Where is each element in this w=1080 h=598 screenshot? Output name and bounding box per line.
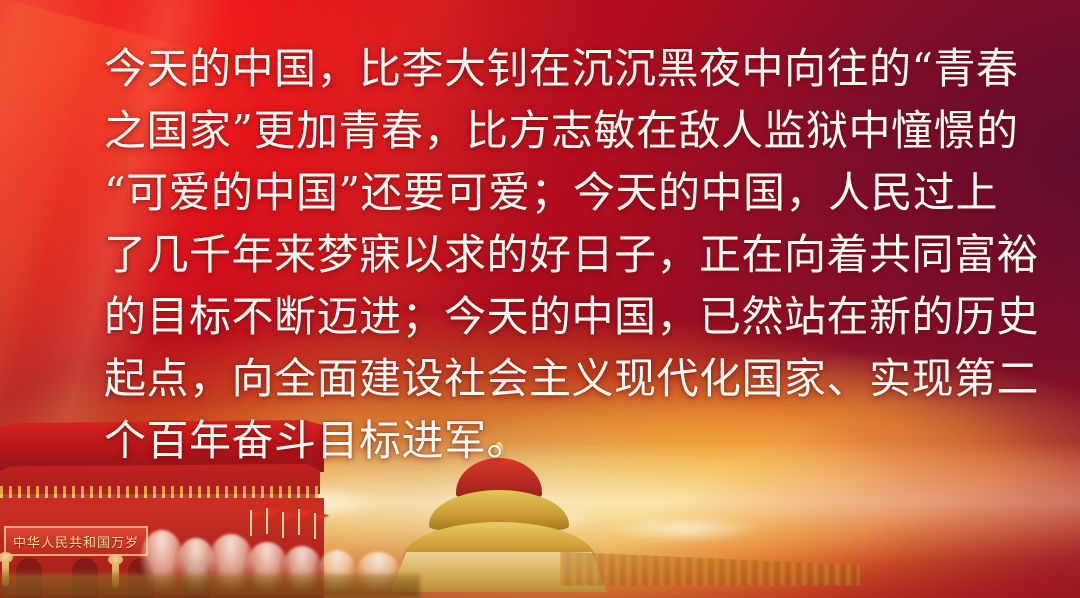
quote-line: 起点，向全面建设社会主义现代化国家、实现第二 [104,348,944,410]
quote-line: 了几千年来梦寐以求的好日子，正在向着共同富裕 [104,224,944,286]
quote-line: 的目标不断迈进；今天的中国，已然站在新的历史 [104,286,944,348]
quote-line: 今天的中国，比李大钊在沉沉黑夜中向往的“青春 [104,38,944,100]
quote-text-block: 今天的中国，比李大钊在沉沉黑夜中向往的“青春 之国家”更加青春，比方志敏在敌人监… [104,38,944,472]
quote-line: 之国家”更加青春，比方志敏在敌人监狱中憧憬的 [104,100,944,162]
quote-line: “可爱的中国”还要可爱；今天的中国，人民过上 [104,162,944,224]
poster-canvas: 中华人民共和国万岁 今天的中国，比李大钊在沉沉黑夜中向往的“青春 之国家”更加青… [0,0,1080,598]
quote-line: 个百年奋斗目标进军。 [104,410,944,472]
